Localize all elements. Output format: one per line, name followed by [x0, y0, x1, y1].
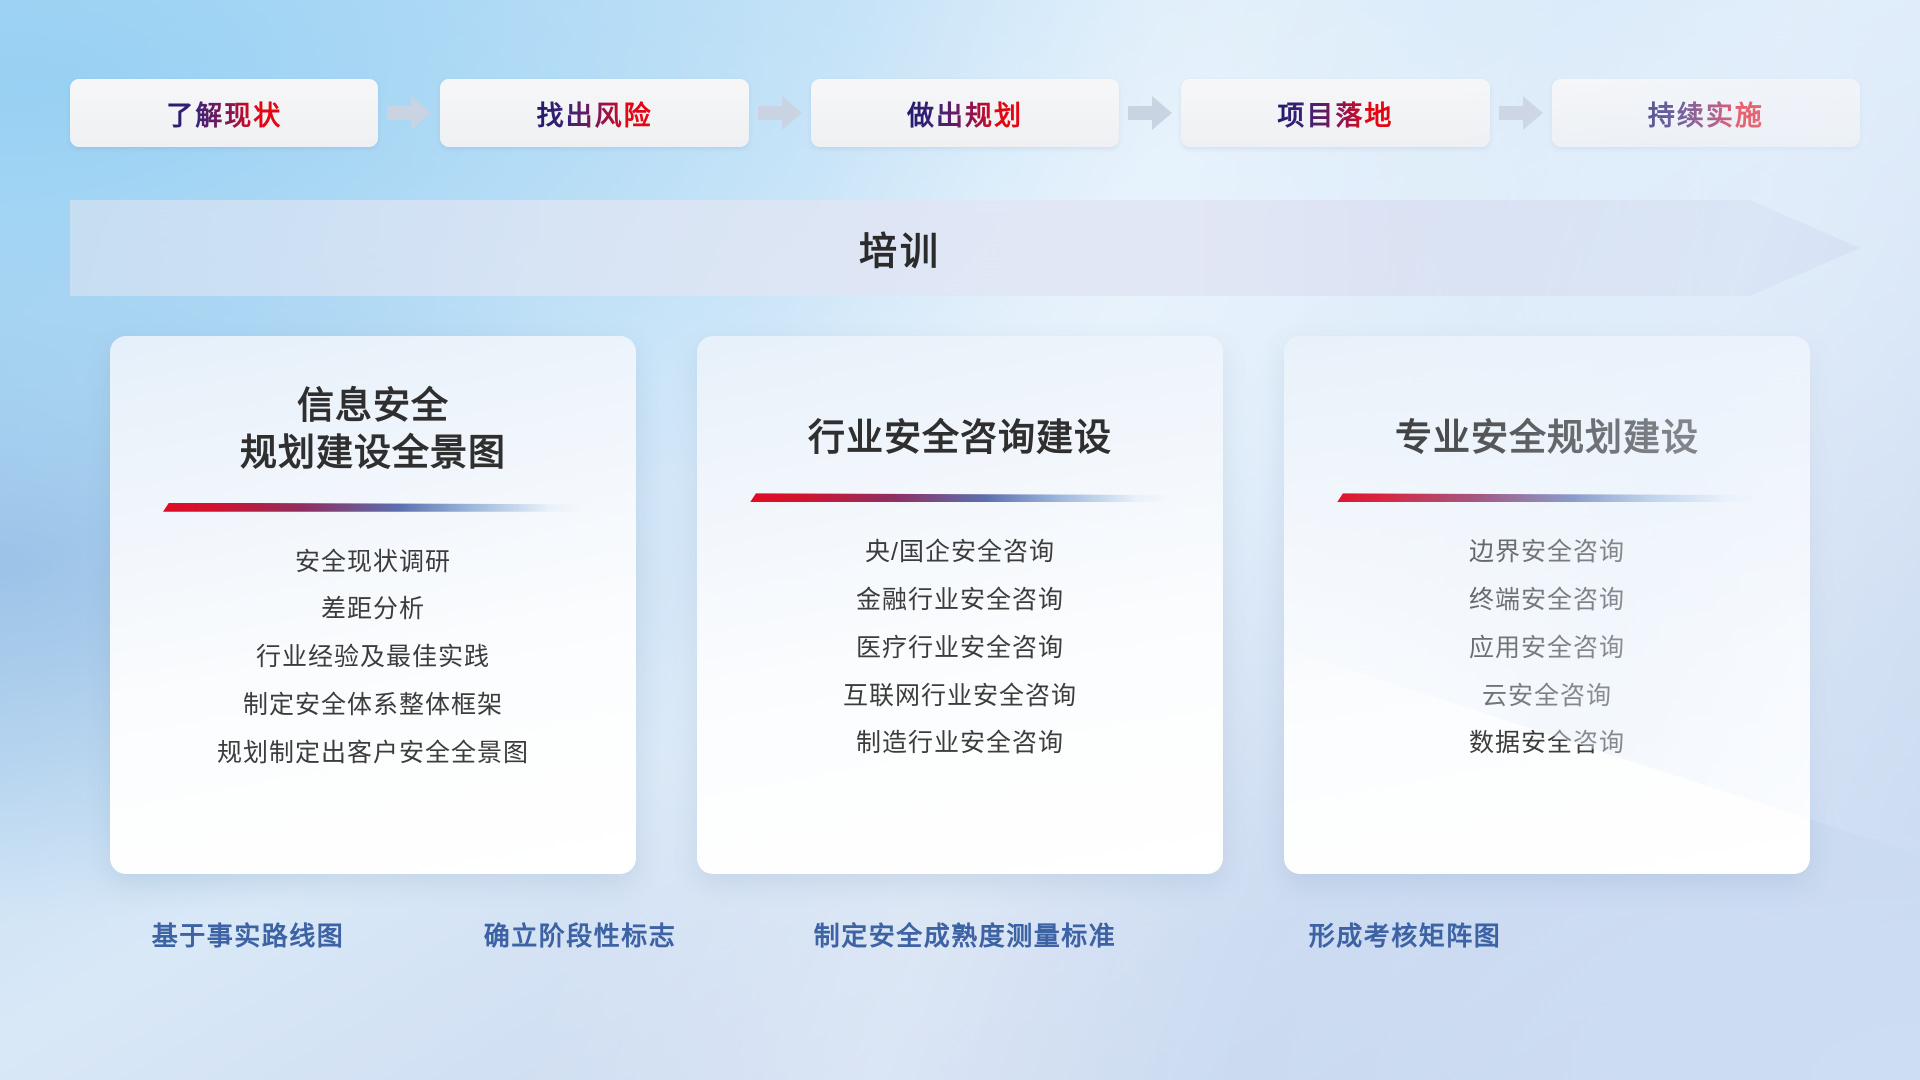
step-box-1[interactable]: 了解现状 — [70, 79, 378, 147]
card-industry-security-consulting[interactable]: 行业安全咨询建设 央/国企安全咨询 金融行业安全咨询 医疗行业安全咨询 互联网行… — [697, 336, 1223, 874]
step-connector-arrow-icon — [749, 93, 811, 133]
step-label: 了解现状 — [166, 94, 282, 133]
slide-canvas: 了解现状 找出风险 做出规划 项目落地 — [0, 0, 1920, 1080]
caption-maturity: 制定安全成熟度测量标准 — [814, 916, 1117, 953]
step-label: 持续实施 — [1648, 94, 1764, 133]
list-item: 边界安全咨询 — [1469, 536, 1625, 570]
list-item: 医疗行业安全咨询 — [856, 632, 1064, 666]
card-divider — [750, 493, 1170, 502]
card-item-list: 安全现状调研 差距分析 行业经验及最佳实践 制定安全体系整体框架 规划制定出客户… — [217, 546, 529, 771]
list-item: 互联网行业安全咨询 — [843, 680, 1077, 714]
card-item-list: 边界安全咨询 终端安全咨询 应用安全咨询 云安全咨询 数据安全咨询 — [1469, 536, 1625, 761]
list-item: 云安全咨询 — [1482, 680, 1612, 714]
banner-label: 培训 — [70, 221, 1860, 276]
step-label: 做出规划 — [907, 94, 1023, 133]
card-item-list: 央/国企安全咨询 金融行业安全咨询 医疗行业安全咨询 互联网行业安全咨询 制造行… — [843, 536, 1077, 761]
list-item: 金融行业安全咨询 — [856, 584, 1064, 618]
caption-roadmap: 基于事实路线图 — [152, 916, 345, 953]
list-item: 央/国企安全咨询 — [865, 536, 1055, 570]
list-item: 终端安全咨询 — [1469, 584, 1625, 618]
card-information-security-blueprint[interactable]: 信息安全 规划建设全景图 安全现状调研 差距分析 行业经验及最佳实践 制定安全体… — [110, 336, 636, 874]
list-item: 安全现状调研 — [295, 546, 451, 580]
list-item: 制定安全体系整体框架 — [243, 689, 503, 723]
list-item: 规划制定出客户安全全景图 — [217, 737, 529, 771]
step-connector-arrow-icon — [1119, 93, 1181, 133]
step-connector-arrow-icon — [1490, 93, 1552, 133]
process-steps-row: 了解现状 找出风险 做出规划 项目落地 — [70, 78, 1860, 148]
step-box-2[interactable]: 找出风险 — [440, 79, 748, 147]
list-item: 数据安全咨询 — [1469, 727, 1625, 761]
card-divider — [1337, 493, 1757, 502]
card-divider — [163, 503, 583, 512]
training-banner: 培训 — [70, 196, 1860, 300]
card-title: 信息安全 规划建设全景图 — [240, 382, 506, 477]
cards-row: 信息安全 规划建设全景图 安全现状调研 差距分析 行业经验及最佳实践 制定安全体… — [110, 336, 1810, 874]
list-item: 行业经验及最佳实践 — [256, 641, 490, 675]
list-item: 应用安全咨询 — [1469, 632, 1625, 666]
step-box-5[interactable]: 持续实施 — [1552, 79, 1860, 147]
step-label: 项目落地 — [1277, 94, 1393, 133]
card-professional-security-planning[interactable]: 专业安全规划建设 边界安全咨询 终端安全咨询 应用安全咨询 云安全咨询 数据安全… — [1284, 336, 1810, 874]
list-item: 制造行业安全咨询 — [856, 727, 1064, 761]
step-label: 找出风险 — [537, 94, 653, 133]
caption-milestone: 确立阶段性标志 — [484, 916, 677, 953]
caption-matrix: 形成考核矩阵图 — [1309, 916, 1502, 953]
step-connector-arrow-icon — [378, 93, 440, 133]
list-item: 差距分析 — [321, 593, 425, 627]
step-box-3[interactable]: 做出规划 — [811, 79, 1119, 147]
bottom-captions-row: 基于事实路线图 确立阶段性标志 制定安全成熟度测量标准 形成考核矩阵图 — [110, 916, 1810, 960]
card-title: 行业安全咨询建设 — [808, 414, 1112, 461]
step-box-4[interactable]: 项目落地 — [1181, 79, 1489, 147]
card-title: 专业安全规划建设 — [1395, 414, 1699, 461]
